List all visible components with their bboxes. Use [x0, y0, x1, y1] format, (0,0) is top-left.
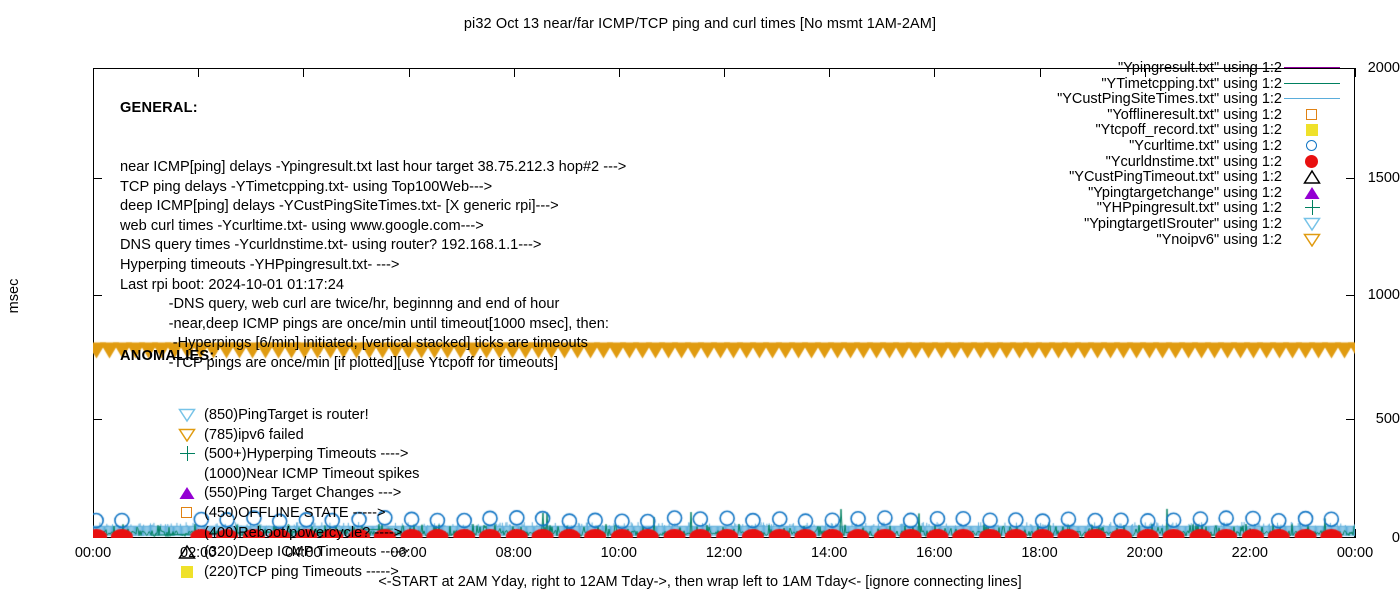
- anomaly-row: (320)Deep ICMP Timeouts ---->: [204, 543, 419, 563]
- x-tick-label-6: 12:00: [679, 545, 769, 561]
- legend-line-swatch: [1284, 76, 1346, 92]
- anomaly-label: (550)Ping Target Changes --->: [204, 485, 401, 501]
- anomaly-marker: [179, 544, 199, 561]
- legend-item-key: [1284, 91, 1346, 107]
- legend-item[interactable]: "Ynoipv6" using 1:2: [954, 232, 1354, 248]
- chart-title: pi32 Oct 13 near/far ICMP/TCP ping and c…: [0, 16, 1400, 32]
- anomaly-row: (850)PingTarget is router!: [204, 406, 419, 426]
- anomaly-label: (850)PingTarget is router!: [204, 407, 369, 423]
- legend-item[interactable]: "Yofflineresult.txt" using 1:2: [954, 107, 1354, 123]
- general-line: DNS query times -Ycurldnstime.txt- using…: [120, 236, 626, 256]
- anomaly-label: (450)OFFLINE STATE ----->: [204, 505, 386, 521]
- anomaly-label: (1000)Near ICMP Timeout spikes: [204, 466, 419, 482]
- legend-item-label: "Ycurldnstime.txt" using 1:2: [1106, 154, 1282, 170]
- legend-item-label: "YTimetcpping.txt" using 1:2: [1101, 76, 1282, 92]
- triangle-down-open-icon: [1284, 216, 1346, 232]
- legend-item-label: "YpingtargetISrouter" using 1:2: [1084, 216, 1282, 232]
- legend-item[interactable]: "YHPpingresult.txt" using 1:2: [954, 200, 1354, 216]
- x-tick-mark-12: [1355, 529, 1356, 538]
- triangle-up-filled-icon: [159, 485, 179, 501]
- general-line: TCP ping delays -YTimetcpping.txt- using…: [120, 178, 626, 198]
- legend-item-key: [1284, 76, 1346, 92]
- general-line: web curl times -Ycurltime.txt- using www…: [120, 217, 626, 237]
- anomalies-annotation-block: ANOMALIES: (850)PingTarget is router!(78…: [120, 308, 419, 602]
- anomaly-row: (550)Ping Target Changes --->: [204, 484, 419, 504]
- legend-item-label: "Ypingresult.txt" using 1:2: [1118, 60, 1282, 76]
- anomalies-header: ANOMALIES:: [120, 347, 419, 367]
- anomaly-marker: [179, 427, 199, 444]
- anomaly-marker: [179, 485, 199, 502]
- legend-item[interactable]: "YTimetcpping.txt" using 1:2: [954, 76, 1354, 92]
- x-tick-label-12: 00:00: [1310, 545, 1400, 561]
- triangle-up-filled-icon: [1284, 185, 1346, 201]
- y-axis-label: msec: [6, 266, 22, 326]
- square-open-icon: [1284, 107, 1346, 123]
- legend-item-label: "Ytcpoff_record.txt" using 1:2: [1095, 122, 1282, 138]
- x-tick-label-11: 22:00: [1205, 545, 1295, 561]
- general-line: Last rpi boot: 2024-10-01 01:17:24: [120, 276, 626, 296]
- anomaly-label: (400)Reboot/powercycle? ---->: [204, 525, 402, 541]
- legend-item-label: "YCustPingSiteTimes.txt" using 1:2: [1057, 91, 1282, 107]
- legend-item-key: [1284, 107, 1346, 123]
- legend-item-key: [1284, 185, 1346, 201]
- x-tick-label-10: 20:00: [1100, 545, 1190, 561]
- legend-item-key: [1284, 138, 1346, 154]
- anomaly-row: (450)OFFLINE STATE ----->: [204, 504, 419, 524]
- legend-item-key: [1284, 154, 1346, 170]
- triangle-up-open-icon: [159, 544, 179, 560]
- square-open-icon: [159, 505, 179, 521]
- anomaly-label: (320)Deep ICMP Timeouts ---->: [204, 544, 409, 560]
- general-header: GENERAL:: [120, 99, 626, 119]
- x-tick-label-8: 16:00: [889, 545, 979, 561]
- x-axis-caption: <-START at 2AM Yday, right to 12AM Tday-…: [0, 574, 1400, 590]
- legend-item[interactable]: "YCustPingSiteTimes.txt" using 1:2: [954, 91, 1354, 107]
- anomaly-marker: [179, 446, 199, 463]
- legend-item-label: "Ynoipv6" using 1:2: [1156, 232, 1282, 248]
- legend-item[interactable]: "YpingtargetISrouter" using 1:2: [954, 216, 1354, 232]
- legend-line-swatch: [1284, 91, 1346, 107]
- x-tick-mark-12: [1355, 68, 1356, 77]
- triangle-down-open-icon: [159, 427, 179, 443]
- anomaly-row: (1000)Near ICMP Timeout spikes: [204, 465, 419, 485]
- general-line: Hyperping timeouts -YHPpingresult.txt- -…: [120, 256, 626, 276]
- legend-item-key: [1284, 60, 1346, 76]
- legend-item-label: "YHPpingresult.txt" using 1:2: [1097, 200, 1282, 216]
- legend-item[interactable]: "Ypingresult.txt" using 1:2: [954, 60, 1354, 76]
- anomaly-marker: [179, 407, 199, 424]
- legend-item-key: [1284, 200, 1346, 216]
- triangle-up-open-icon: [1284, 169, 1346, 185]
- circle-open-icon: [1284, 138, 1346, 154]
- legend-item-label: "Ypingtargetchange" using 1:2: [1088, 185, 1282, 201]
- circle-filled-icon: [1284, 154, 1346, 170]
- plus-icon: [159, 446, 179, 462]
- legend-item-key: [1284, 216, 1346, 232]
- anomaly-row: (785)ipv6 failed: [204, 426, 419, 446]
- legend-item[interactable]: "Ypingtargetchange" using 1:2: [954, 185, 1354, 201]
- legend-line-swatch: [1284, 60, 1346, 76]
- legend-item[interactable]: "YCustPingTimeout.txt" using 1:2: [954, 169, 1354, 185]
- x-tick-label-7: 14:00: [784, 545, 874, 561]
- general-line: deep ICMP[ping] delays -YCustPingSiteTim…: [120, 197, 626, 217]
- legend-item-key: [1284, 232, 1346, 248]
- legend-item-key: [1284, 169, 1346, 185]
- legend-item[interactable]: "Ytcpoff_record.txt" using 1:2: [954, 122, 1354, 138]
- anomaly-row: (500+)Hyperping Timeouts ---->: [204, 445, 419, 465]
- triangle-down-open-icon: [159, 407, 179, 423]
- x-tick-label-5: 10:00: [574, 545, 664, 561]
- legend-item-key: [1284, 122, 1346, 138]
- x-tick-label-4: 08:00: [469, 545, 559, 561]
- triangle-down-open-icon: [1284, 232, 1346, 248]
- legend-item-label: "Yofflineresult.txt" using 1:2: [1107, 107, 1282, 123]
- anomaly-label: (500+)Hyperping Timeouts ---->: [204, 446, 408, 462]
- anomaly-marker: [179, 505, 199, 522]
- x-tick-label-9: 18:00: [995, 545, 1085, 561]
- legend-item[interactable]: "Ycurldnstime.txt" using 1:2: [954, 154, 1354, 170]
- general-line: near ICMP[ping] delays -Ypingresult.txt …: [120, 158, 626, 178]
- square-filled-icon: [1284, 122, 1346, 138]
- legend-item[interactable]: "Ycurltime.txt" using 1:2: [954, 138, 1354, 154]
- plus-icon: [1284, 200, 1346, 216]
- legend-item-label: "YCustPingTimeout.txt" using 1:2: [1069, 169, 1282, 185]
- legend-item-label: "Ycurltime.txt" using 1:2: [1129, 138, 1282, 154]
- anomaly-row: (400)Reboot/powercycle? ---->: [204, 524, 419, 544]
- legend: "Ypingresult.txt" using 1:2"YTimetcpping…: [954, 60, 1354, 247]
